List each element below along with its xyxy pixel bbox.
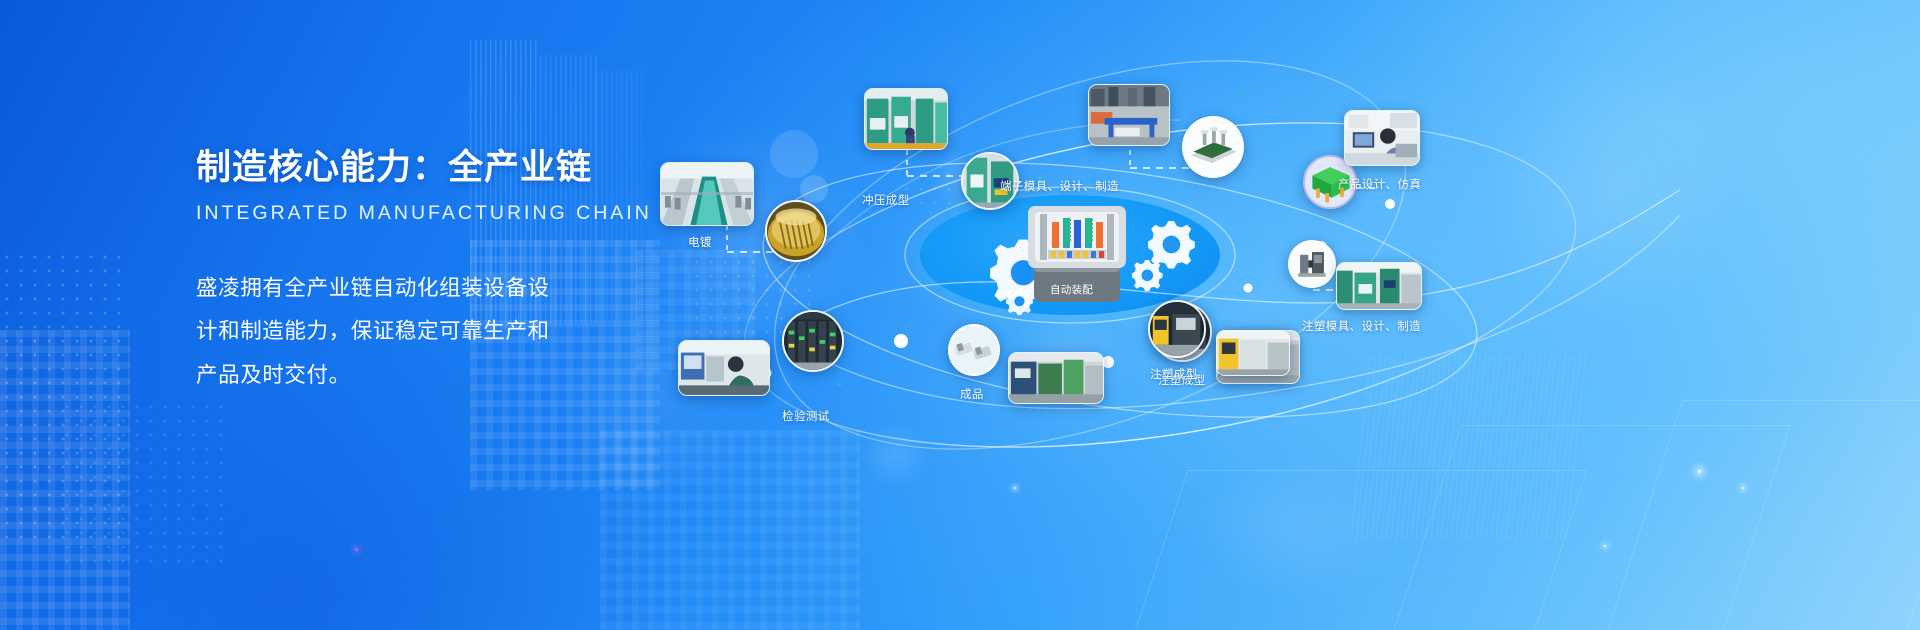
- injection-mold-photo-card: [1336, 262, 1422, 310]
- node-assembly-line-green[interactable]: [1008, 352, 1104, 404]
- mold-tool-photo-card: [1288, 240, 1336, 288]
- engineer-cad-photo-icon: [1345, 111, 1419, 165]
- stamping-machine-photo-icon: [865, 89, 947, 149]
- node-cnc-machine-right[interactable]: [1216, 330, 1290, 376]
- pcb-fixture-photo-icon: [1184, 118, 1242, 176]
- node-auto-assembly[interactable]: 自动装配: [1018, 200, 1136, 308]
- inspection-photo-card: [678, 340, 770, 396]
- test-lab-photo-icon: [679, 341, 769, 395]
- electroplating-label: 电镀: [688, 234, 712, 250]
- node-stamping-forming[interactable]: 冲压成型: [864, 88, 948, 150]
- stamping-forming-label: 冲压成型: [862, 192, 910, 208]
- finished-product-label: 成品: [960, 386, 984, 402]
- auto-assembly-label: 自动装配: [1050, 282, 1093, 297]
- assembly-line-green-photo-card: [1008, 352, 1104, 404]
- bg-dot-grid-left2: [60, 400, 230, 570]
- test-rack-photo-icon: [784, 312, 842, 370]
- cnc-photo-card: [1216, 330, 1290, 376]
- bg-dot-grid-left: [0, 250, 120, 540]
- node-mold-tool-3d[interactable]: [1288, 240, 1336, 288]
- banner-root: 制造核心能力：全产业链 INTEGRATED MANUFACTURING CHA…: [0, 0, 1920, 630]
- node-finished-product[interactable]: 成品: [948, 324, 1000, 376]
- node-electroplating[interactable]: 电镀: [660, 162, 754, 226]
- cnc-machine-photo-icon: [1217, 331, 1289, 375]
- node-test-rack[interactable]: [782, 310, 844, 372]
- node-injection-mold[interactable]: 注塑模具、设计、制造: [1336, 262, 1422, 310]
- bg-square-grid-left: [0, 330, 130, 630]
- gold-contact-photo-card: [765, 200, 827, 262]
- sparkle-5: [355, 548, 358, 551]
- mold-tool-3d-icon: [1290, 242, 1334, 286]
- node-injection-forming-photo[interactable]: 注塑成型: [1148, 300, 1206, 358]
- finished-product-photo-card: [948, 324, 1000, 376]
- stamping-photo-card: [864, 88, 948, 150]
- injection-mold-label: 注塑模具、设计、制造: [1302, 318, 1421, 334]
- injection-machine-photo-icon: [1150, 302, 1204, 356]
- mold-workshop-photo-icon: [1089, 85, 1169, 145]
- gear-small-icon: [1132, 258, 1166, 292]
- product-design-label: 产品设计、仿真: [1338, 176, 1421, 192]
- gold-contact-photo-icon: [767, 202, 825, 260]
- factory-line-photo-icon: [661, 163, 753, 225]
- connector-product-photo-icon: [950, 326, 998, 374]
- injection-forming-node-label: 注塑成型: [1150, 366, 1198, 382]
- node-terminal-mold[interactable]: 端子模具、设计、制造: [1088, 84, 1170, 146]
- node-inspection-testing[interactable]: 检验测试: [678, 340, 770, 396]
- injection-forming-circle-card: [1148, 300, 1206, 358]
- manufacturing-chain-diagram: 自动装配 电镀: [620, 0, 1920, 630]
- inspection-testing-label: 检验测试: [782, 408, 830, 424]
- electroplating-photo-card: [660, 162, 754, 226]
- node-gold-plated-part[interactable]: [765, 200, 827, 262]
- terminal-mold-label: 端子模具、设计、制造: [1000, 178, 1119, 194]
- terminal-mold-photo-card: [1088, 84, 1170, 146]
- assembly-line-photo-icon: [1009, 353, 1103, 403]
- product-design-photo-card: [1344, 110, 1420, 166]
- injection-mold-photo-icon: [1337, 263, 1421, 309]
- node-pcb-fixture[interactable]: [1182, 116, 1244, 178]
- test-rack-photo-card: [782, 310, 844, 372]
- node-product-design[interactable]: 产品设计、仿真: [1344, 110, 1420, 166]
- pcb-fixture-photo-card: [1182, 116, 1244, 178]
